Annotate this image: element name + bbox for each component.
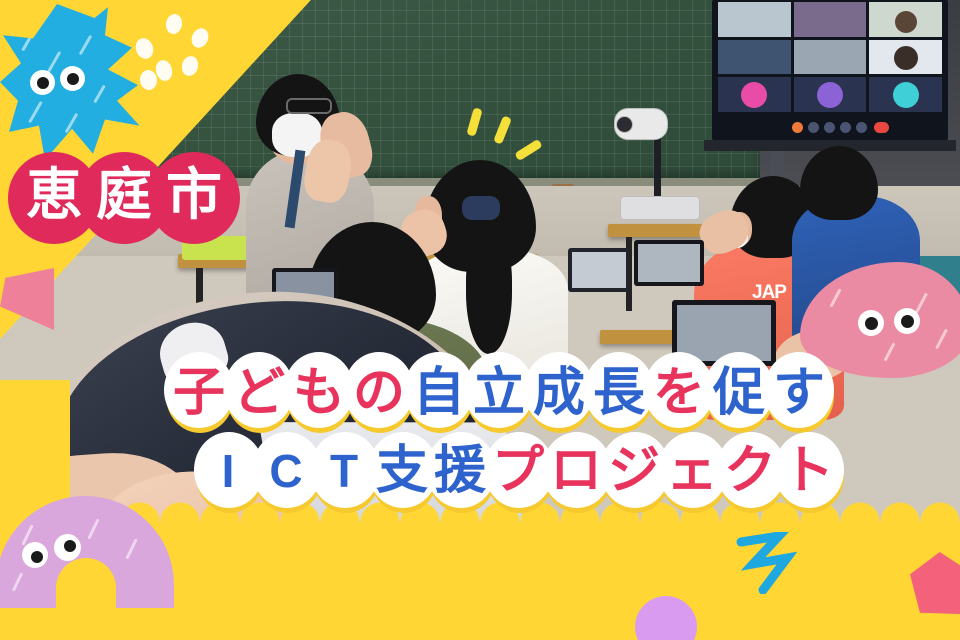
title-char: ジ [608, 445, 660, 497]
teacher-glasses [286, 98, 332, 114]
blob-arch-cutout [56, 558, 116, 610]
share-button[interactable] [824, 122, 835, 133]
badge-char-3: 市 [148, 152, 240, 244]
participant-avatar [817, 82, 843, 108]
title-char: ロ [550, 445, 602, 497]
hangup-button[interactable] [874, 122, 889, 133]
title-char-bubble: 援 [425, 430, 495, 512]
video-tile [869, 2, 942, 37]
video-tile [794, 2, 867, 37]
title-char: T [330, 448, 358, 494]
blob-pupil-right [64, 540, 76, 552]
video-tile [718, 77, 791, 112]
title-char: ク [724, 445, 776, 497]
doc-camera-lens [616, 116, 633, 133]
mic-button[interactable] [792, 122, 803, 133]
title-char: 立 [473, 367, 525, 419]
title-char: ト [782, 445, 834, 497]
title-char-bubble: ェ [657, 430, 727, 512]
title-char: 成 [533, 367, 585, 419]
title-char: す [773, 367, 825, 419]
hair-tie [462, 196, 500, 220]
video-toolbar [712, 118, 948, 138]
participant-avatar [741, 82, 767, 108]
participant-avatar [893, 82, 919, 108]
blob-texture [79, 35, 93, 56]
title-char: 長 [593, 367, 645, 419]
title-char: を [653, 367, 705, 419]
title-char: ど [233, 367, 285, 419]
participant-head [895, 11, 917, 33]
title-char-bubble: ジ [599, 430, 669, 512]
video-tile [869, 77, 942, 112]
participants-button[interactable] [856, 122, 867, 133]
title-line-1: 子どもの自立成長を促す [0, 350, 960, 436]
title-line-2: ICT支援プロジェクト [0, 430, 960, 512]
title-char: プ [492, 445, 544, 497]
video-tile [718, 2, 791, 37]
title-char: 促 [713, 367, 765, 419]
participant-head [894, 46, 918, 70]
blob-texture [125, 538, 137, 559]
blue-zigzag-icon [735, 532, 805, 594]
video-participant-grid [718, 2, 942, 112]
chat-button[interactable] [840, 122, 851, 133]
title-char-bubble: ト [773, 430, 843, 512]
video-tile [718, 40, 791, 75]
blob-texture [829, 288, 841, 307]
video-tile [794, 77, 867, 112]
camera-button[interactable] [808, 122, 819, 133]
blob-texture [12, 572, 23, 591]
blob-texture [935, 329, 948, 350]
laptop-screen [638, 244, 700, 282]
title-char: 支 [376, 445, 428, 497]
title-char: 自 [413, 367, 465, 419]
title-char: C [269, 448, 302, 494]
title-char: I [222, 448, 235, 494]
blob-pupil-left [31, 551, 43, 563]
banner-title: 子どもの自立成長を促す ICT支援プロジェクト [0, 350, 960, 512]
blob-pupil-right [67, 73, 79, 85]
title-char-bubble: ク [715, 430, 785, 512]
video-tile [794, 40, 867, 75]
blob-texture [28, 101, 43, 123]
title-char: も [293, 367, 345, 419]
title-char: ェ [666, 445, 718, 497]
blob-pupil-left [865, 317, 878, 330]
title-char-bubble: 支 [367, 430, 437, 512]
promo-banner: JAP [0, 0, 960, 640]
city-badge: 恵 庭 市 [8, 152, 218, 244]
blob-texture [915, 293, 928, 314]
video-conference-display [712, 0, 948, 140]
title-char: の [353, 367, 405, 419]
blob-texture [93, 85, 106, 104]
doc-camera-base [620, 196, 700, 220]
title-char-bubble: す [763, 350, 835, 436]
title-char-bubble: プ [483, 430, 553, 512]
blob-pupil-left [37, 77, 49, 89]
video-tile [869, 40, 942, 75]
title-char: 子 [173, 367, 225, 419]
blob-texture [87, 518, 99, 539]
title-char: 援 [434, 445, 486, 497]
blob-pupil-right [901, 315, 914, 328]
tablet-screen [572, 252, 626, 288]
title-char-bubble: ロ [541, 430, 611, 512]
